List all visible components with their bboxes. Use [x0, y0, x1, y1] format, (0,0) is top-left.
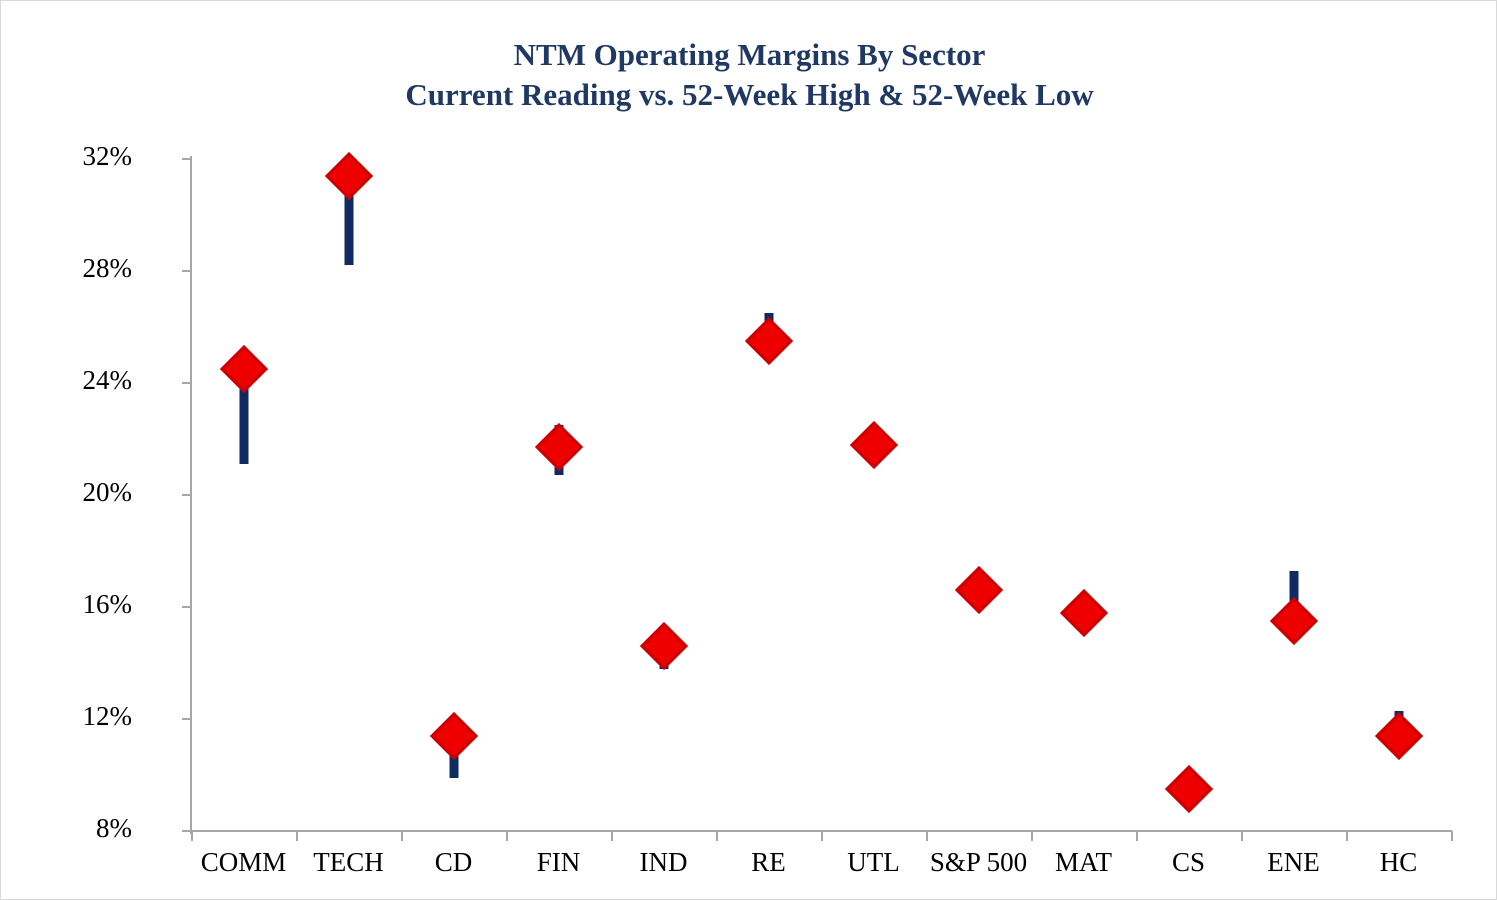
x-axis-tick-label: FIN	[506, 849, 611, 876]
current-reading-marker	[744, 317, 792, 365]
y-axis-tick	[182, 718, 191, 720]
current-reading-marker	[1164, 765, 1212, 813]
x-axis-tick-label: CS	[1136, 849, 1241, 876]
current-reading-marker	[1374, 712, 1422, 760]
current-reading-marker	[429, 712, 477, 760]
x-axis-tick-label: IND	[611, 849, 716, 876]
x-axis-tick-label: TECH	[296, 849, 401, 876]
y-axis-tick-label: 20%	[12, 479, 132, 506]
current-reading-marker	[639, 622, 687, 670]
x-axis-tick-label: UTL	[821, 849, 926, 876]
x-axis-tick	[1346, 831, 1348, 841]
y-axis-tick	[182, 606, 191, 608]
plot-area: 8%12%16%20%24%28%32% COMMTECHCDFININDREU…	[191, 159, 1451, 831]
y-axis-tick	[182, 158, 191, 160]
y-axis-tick	[182, 270, 191, 272]
x-axis-tick-label: COMM	[191, 849, 296, 876]
x-axis-tick	[506, 831, 508, 841]
x-axis-tick	[821, 831, 823, 841]
x-axis-tick	[1241, 831, 1243, 841]
y-axis-tick	[182, 830, 191, 832]
x-axis-tick	[1451, 831, 1453, 841]
y-axis-tick-label: 28%	[12, 255, 132, 282]
current-reading-marker	[534, 423, 582, 471]
x-axis-tick-label: ENE	[1241, 849, 1346, 876]
x-axis-tick	[401, 831, 403, 841]
y-axis-tick-label: 24%	[12, 367, 132, 394]
chart-title-line-1: NTM Operating Margins By Sector	[1, 35, 1497, 75]
x-axis-tick	[926, 831, 928, 841]
current-reading-marker	[324, 152, 372, 200]
x-axis-tick-label: MAT	[1031, 849, 1136, 876]
x-axis-tick-label: S&P 500	[926, 849, 1031, 876]
chart-title-line-2: Current Reading vs. 52-Week High & 52-We…	[1, 75, 1497, 115]
chart-title: NTM Operating Margins By Sector Current …	[1, 35, 1497, 115]
current-reading-marker	[849, 421, 897, 469]
y-axis-tick	[182, 382, 191, 384]
x-axis-tick-label: RE	[716, 849, 821, 876]
x-axis-tick	[1031, 831, 1033, 841]
current-reading-marker	[219, 345, 267, 393]
x-axis-tick	[1136, 831, 1138, 841]
x-axis-tick-label: CD	[401, 849, 506, 876]
x-axis-tick	[191, 831, 193, 841]
x-axis-tick-label: HC	[1346, 849, 1451, 876]
x-axis-tick	[296, 831, 298, 841]
x-axis-tick	[716, 831, 718, 841]
y-axis-tick-label: 8%	[12, 815, 132, 842]
chart-container: NTM Operating Margins By Sector Current …	[0, 0, 1497, 900]
y-axis-tick	[182, 494, 191, 496]
y-axis-tick-label: 12%	[12, 703, 132, 730]
current-reading-marker	[1269, 597, 1317, 645]
y-axis-tick-label: 16%	[12, 591, 132, 618]
y-axis-tick-label: 32%	[12, 143, 132, 170]
current-reading-marker	[954, 566, 1002, 614]
x-axis-tick	[611, 831, 613, 841]
current-reading-marker	[1059, 589, 1107, 637]
